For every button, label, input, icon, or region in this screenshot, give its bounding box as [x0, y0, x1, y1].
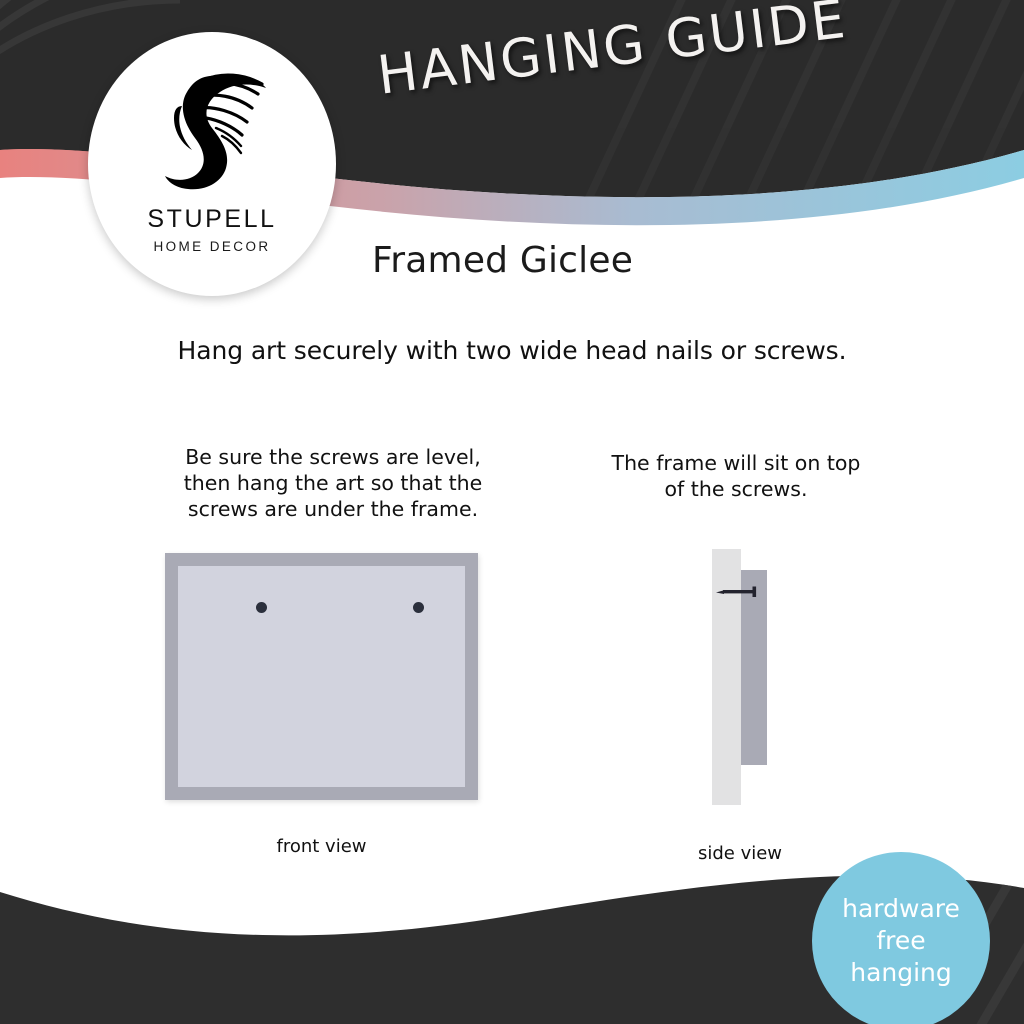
hardware-free-hanging-badge: hardware free hanging [812, 852, 990, 1024]
hanging-guide-page: HANGING GUIDE STUPELL HOME [0, 0, 1024, 1024]
brand-tagline: HOME DECOR [153, 239, 270, 254]
screw-dot-left-icon [256, 602, 267, 613]
front-view-caption-line-2: then hang the art so that the [140, 470, 526, 496]
lede-instruction: Hang art securely with two wide head nai… [0, 336, 1024, 365]
brand-name: STUPELL [147, 205, 276, 234]
brand-logo-badge: STUPELL HOME DECOR [88, 32, 336, 296]
nail-icon [716, 585, 762, 598]
stupell-swoosh-icon [146, 58, 278, 203]
side-view-frame-strip [741, 570, 767, 765]
product-subtitle: Framed Giclee [372, 240, 633, 281]
badge-line-3: hanging [850, 957, 952, 989]
badge-line-2: free [876, 925, 925, 957]
front-view-column: Be sure the screws are level, then hang … [140, 444, 526, 522]
side-view-caption-line-1: The frame will sit on top [596, 450, 876, 476]
front-view-caption-line-1: Be sure the screws are level, [140, 444, 526, 470]
side-view-caption-line-2: of the screws. [596, 476, 876, 502]
front-view-caption-line-3: screws are under the frame. [140, 496, 526, 522]
side-view-column: The frame will sit on top of the screws. [596, 450, 876, 502]
badge-line-1: hardware [842, 893, 960, 925]
front-view-frame-diagram [165, 553, 478, 800]
frame-mat-area [178, 566, 465, 787]
screw-dot-right-icon [413, 602, 424, 613]
